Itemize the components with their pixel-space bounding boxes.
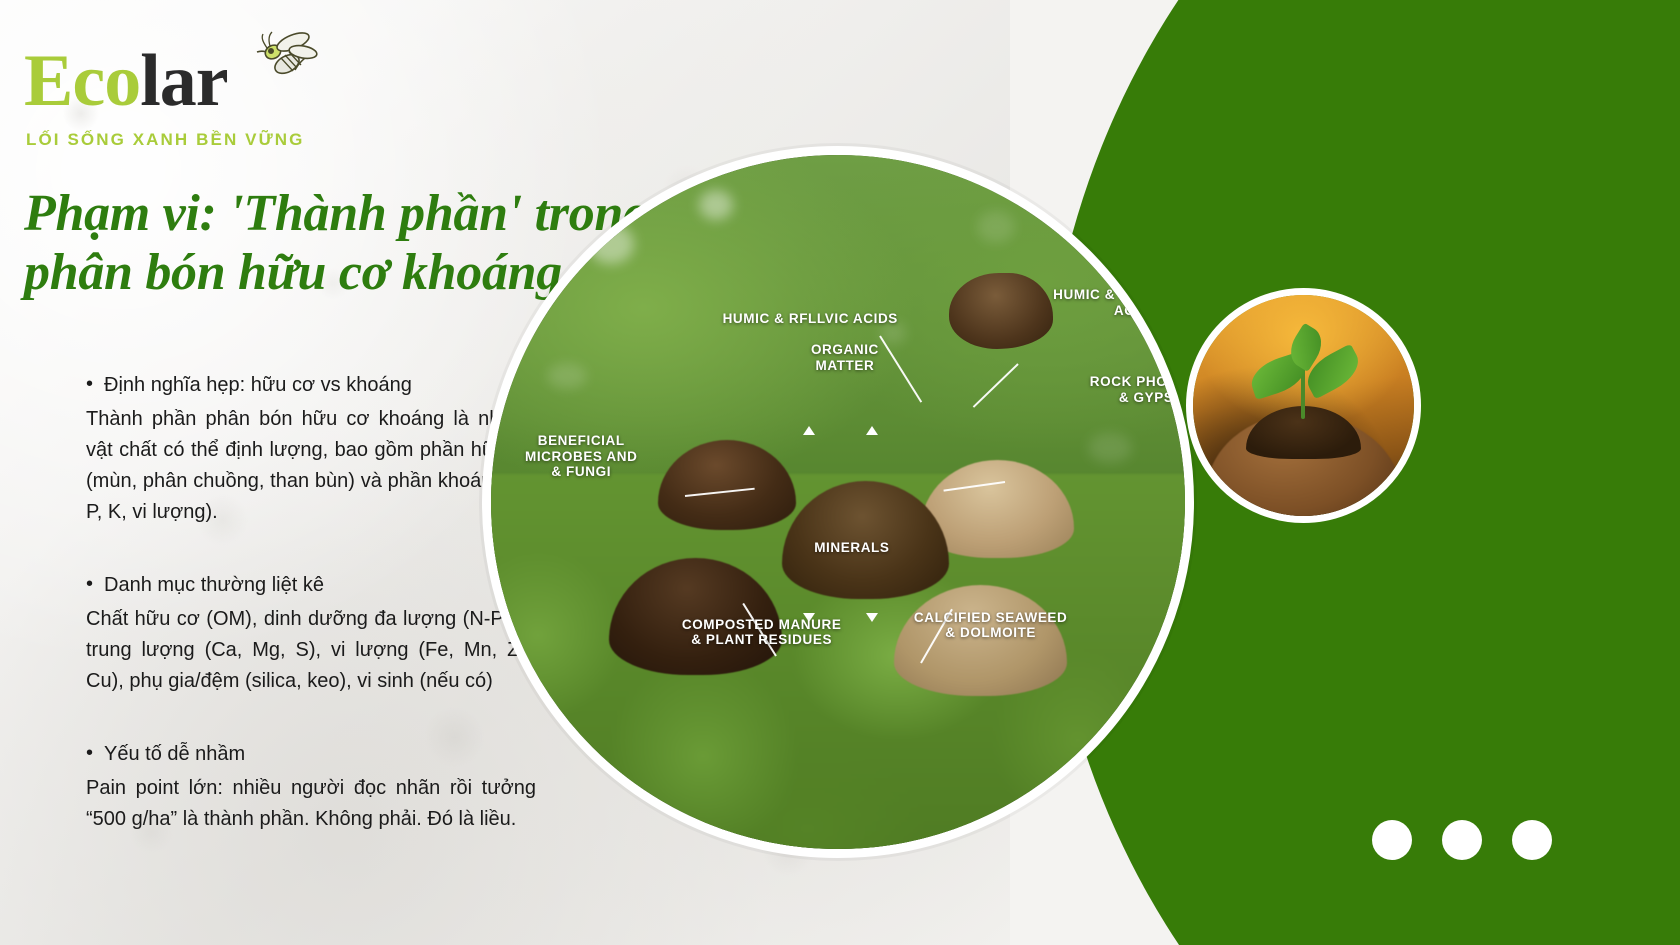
block-2-heading: Danh mục thường liệt kê: [86, 572, 536, 598]
block-3-heading: Yếu tố dễ nhầm: [86, 741, 536, 767]
content-block-2: Danh mục thường liệt kê Chất hữu cơ (OM)…: [86, 572, 536, 697]
logo-lar-text: lar: [140, 40, 227, 122]
label-organic-matter: ORGANIC MATTER: [769, 342, 922, 374]
slide-root: Ecolar LỐI SỐNG XANH BỀN VỮNG Phạm vi: '…: [0, 0, 1680, 945]
bee-icon: [237, 26, 327, 96]
bokeh-3: [547, 363, 587, 389]
logo-tagline: LỐI SỐNG XANH BỀN VỮNG: [26, 130, 305, 150]
pager-dot-2[interactable]: [1442, 820, 1482, 860]
block-1-body: Thành phần phân bón hữu cơ khoáng là nhữ…: [86, 404, 536, 528]
label-composted-manure: COMPOSTED MANURE & PLANT RESIDUES: [651, 617, 873, 649]
block-1-heading: Định nghĩa hẹp: hữu cơ vs khoáng: [86, 372, 536, 398]
bokeh-4: [977, 211, 1015, 243]
diagram-photo-backdrop: HUMIC & RFLLVIC ACIDS ORGANIC MATTER HUM…: [491, 155, 1185, 849]
logo-wordmark: Ecolar: [24, 44, 228, 118]
pager-dots[interactable]: [1372, 820, 1552, 860]
block-2-body: Chất hữu cơ (OM), dinh dưỡng đa lượng (N…: [86, 604, 536, 697]
brand-logo: Ecolar LỐI SỐNG XANH BỀN VỮNG: [22, 18, 322, 158]
label-calcified-seaweed: CALCIFIED SEAWEED & DOLMOITE: [880, 610, 1102, 642]
label-humic-fulvic-left: HUMIC & RFLLVIC ACIDS: [671, 311, 949, 327]
content-column: Định nghĩa hẹp: hữu cơ vs khoáng Thành p…: [86, 372, 536, 835]
label-rock-phosphate-gypsum: ROCK PHOSPHATE & GYPSUM: [1046, 374, 1194, 406]
pager-dot-3[interactable]: [1512, 820, 1552, 860]
content-block-1: Định nghĩa hẹp: hữu cơ vs khoáng Thành p…: [86, 372, 536, 528]
bokeh-1: [588, 224, 634, 264]
arrow-up-organic-matter-right: [866, 426, 878, 435]
block-3-body: Pain point lớn: nhiều người đọc nhãn rồi…: [86, 773, 536, 835]
bokeh-6: [1088, 433, 1132, 463]
logo-eco-text: Eco: [24, 40, 140, 122]
fertilizer-diagram-image: HUMIC & RFLLVIC ACIDS ORGANIC MATTER HUM…: [482, 146, 1194, 858]
arrow-up-organic-matter-left: [803, 426, 815, 435]
content-block-3: Yếu tố dễ nhầm Pain point lớn: nhiều ngư…: [86, 741, 536, 835]
label-humic-fulvic-right: HUMIC & FULVIC ACIDS ACIDS: [1018, 287, 1194, 319]
inset-photo-backdrop: [1193, 295, 1414, 516]
label-minerals: MINERALS: [782, 540, 921, 556]
arrow-line-humic-right: [973, 363, 1019, 408]
bokeh-2: [699, 190, 733, 220]
label-beneficial-microbes: BENEFICIAL MICROBES AND & FUNGI: [482, 433, 685, 481]
pager-dot-1[interactable]: [1372, 820, 1412, 860]
seedling-in-hand-image: [1186, 288, 1421, 523]
